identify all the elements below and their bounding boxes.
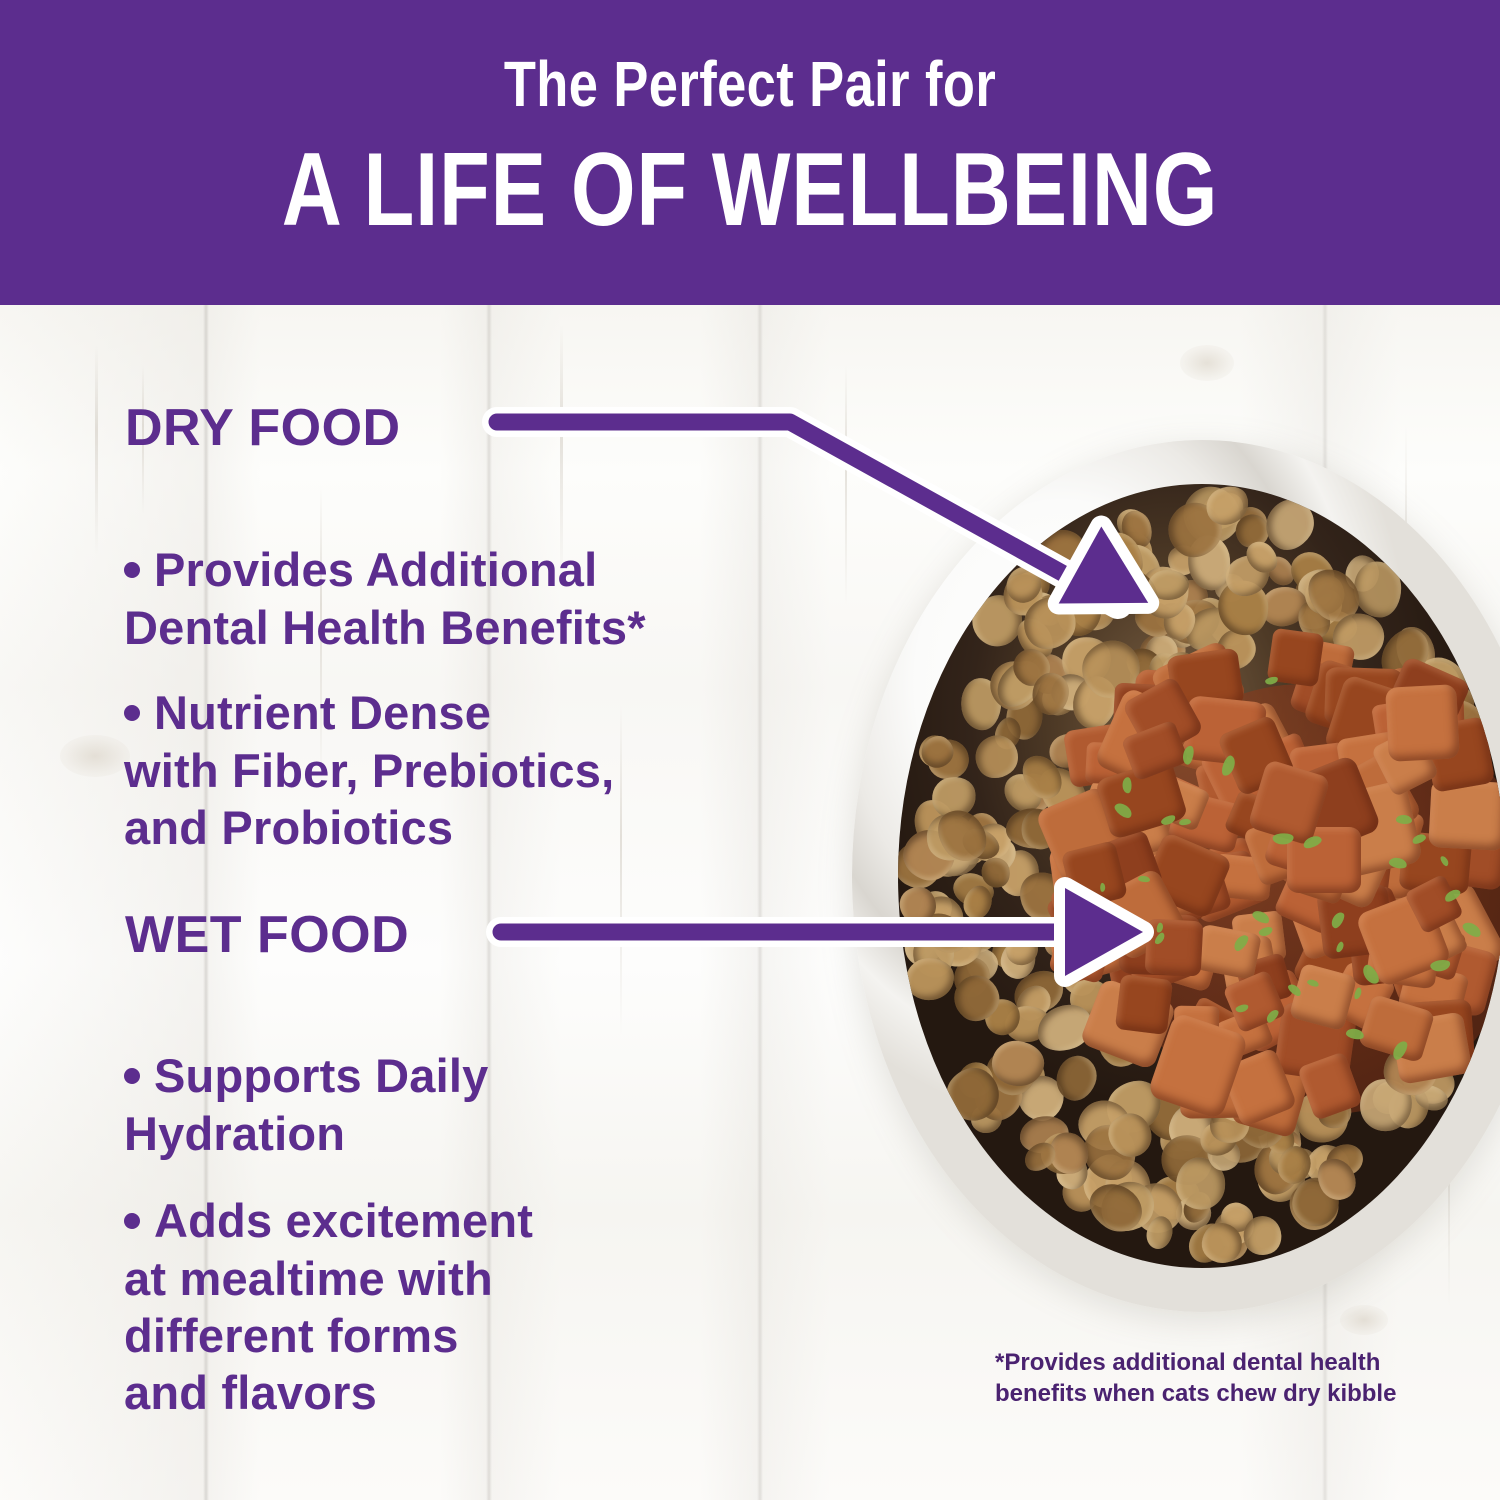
product-benefits-infographic: The Perfect Pair for A LIFE OF WELLBEING… <box>0 0 1500 1500</box>
wet-food-chunk <box>1114 974 1172 1035</box>
wet-food-chunk <box>1144 918 1203 976</box>
header-eyebrow: The Perfect Pair for <box>135 52 1365 116</box>
section-heading-dry-food: DRY FOOD <box>125 398 401 458</box>
food-bowl-photo <box>852 440 1500 1320</box>
wet-food-chunk <box>1385 684 1460 762</box>
page-title: A LIFE OF WELLBEING <box>150 138 1350 242</box>
bullet-dot-icon <box>124 1068 140 1084</box>
herb-fleck <box>1122 777 1131 793</box>
kibble-piece <box>904 957 955 1002</box>
bullet-dot-icon <box>124 705 140 721</box>
dry-food-bullet-2-text: Nutrient Dense with Fiber, Prebiotics, a… <box>124 686 614 854</box>
dry-food-bullet-2: Nutrient Dense with Fiber, Prebiotics, a… <box>124 627 824 856</box>
wet-food-bullet-2-text: Adds excitement at mealtime with differe… <box>124 1194 533 1419</box>
header-banner: The Perfect Pair for A LIFE OF WELLBEING <box>0 0 1500 305</box>
footnote-text: *Provides additional dental health benef… <box>995 1348 1415 1409</box>
bullet-dot-icon <box>124 562 140 578</box>
herb-fleck <box>1264 675 1279 685</box>
bowl-interior <box>898 484 1500 1268</box>
wet-food-bullet-2: Adds excitement at mealtime with differe… <box>124 1135 824 1422</box>
section-heading-wet-food: WET FOOD <box>125 905 409 965</box>
bullet-dot-icon <box>124 1213 140 1229</box>
